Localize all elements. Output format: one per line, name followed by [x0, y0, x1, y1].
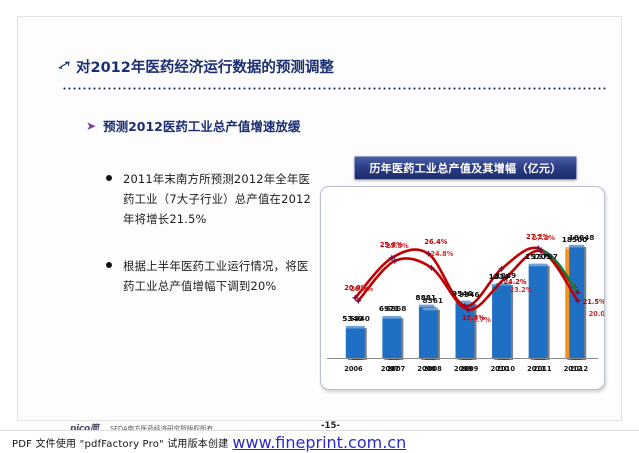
- chart-bar-value: 5340: [349, 315, 370, 322]
- pdf-trial-text: PDF 文件使用 "pdfFactory Pro" 试用版本创建: [12, 435, 228, 450]
- chart-bar-value: 8361: [422, 297, 443, 304]
- bullet-list: 2011年末南方所预测2012年全年医药工业（7大子行业）总产值在2012年将增…: [106, 169, 316, 323]
- chart-pct-label: 23.2%: [510, 287, 533, 294]
- chart-title-text: 历年医药工业总产值及其增幅（亿元）: [369, 160, 561, 176]
- title-divider: [62, 87, 607, 90]
- page-title-text: 对2012年医药经济运行数据的预测调整: [76, 56, 334, 77]
- chart-bar-value: 9346: [459, 291, 480, 298]
- chart-x-label: 2006: [344, 366, 362, 373]
- chart-x-label: 2009: [460, 366, 478, 373]
- chart-pct-label: 20.0%: [350, 286, 373, 293]
- chart-panel: 20.0%25.8%26.4%18.8%24.2%27.2%21.5%20.0%…: [320, 186, 605, 390]
- pdf-trial-bar: PDF 文件使用 "pdfFactory Pro" 试用版本创建 www.fin…: [0, 430, 639, 453]
- chart-x-label: 2011: [533, 366, 551, 373]
- list-item: 2011年末南方所预测2012年全年医药工业（7大子行业）总产值在2012年将增…: [106, 169, 316, 229]
- chart-pct-label: 27.2%: [532, 235, 555, 242]
- chart-x-label: 2007: [387, 366, 405, 373]
- bullet-dot-icon: [106, 175, 112, 181]
- list-item: 根据上半年医药工业运行情况，将医药工业总产值增幅下调到20%: [106, 256, 316, 296]
- bullet-dot-icon: [106, 262, 112, 268]
- bullet-text: 根据上半年医药工业运行情况，将医药工业总产值增幅下调到20%: [123, 256, 316, 296]
- chart-pct-label: 18.7%: [468, 317, 491, 324]
- bullet-text: 2011年末南方所预测2012年全年医药工业（7大子行业）总产值在2012年将增…: [123, 169, 316, 229]
- chart-title-banner: 历年医药工业总产值及其增幅（亿元）: [354, 156, 577, 180]
- chart-bar-value: 18848: [569, 234, 595, 241]
- chart-pct-label: 20.0%: [589, 311, 605, 318]
- subheading: ➤ 预测2012医药工业总产值增速放缓: [86, 116, 300, 135]
- pencil-arrow-icon: [58, 59, 72, 73]
- chart-pct-label: 25.8%: [386, 243, 409, 250]
- chart-x-label: 2008: [423, 366, 441, 373]
- fineprint-link[interactable]: www.fineprint.com.cn: [232, 433, 406, 452]
- chart-pct-label: 26.4%: [424, 239, 447, 246]
- chart-bar-value: 1249: [496, 272, 517, 279]
- triangle-right-icon: ➤: [86, 120, 96, 132]
- chart-bar-value: 15707: [532, 253, 558, 260]
- chart-x-axis: [327, 358, 598, 359]
- chart-x-label: 2012: [570, 366, 588, 373]
- slide-canvas: 对2012年医药经济运行数据的预测调整 ➤ 预测2012医药工业总产值增速放缓 …: [17, 16, 622, 421]
- chart-bar-value: 6968: [386, 305, 407, 312]
- chart-pct-label: 21.5%: [583, 299, 605, 306]
- page-title: 对2012年医药经济运行数据的预测调整: [58, 53, 358, 79]
- chart-pct-label: 24.8%: [430, 251, 453, 258]
- chart-x-label: 2010: [497, 366, 515, 373]
- subheading-text: 预测2012医药工业总产值增速放缓: [103, 116, 300, 135]
